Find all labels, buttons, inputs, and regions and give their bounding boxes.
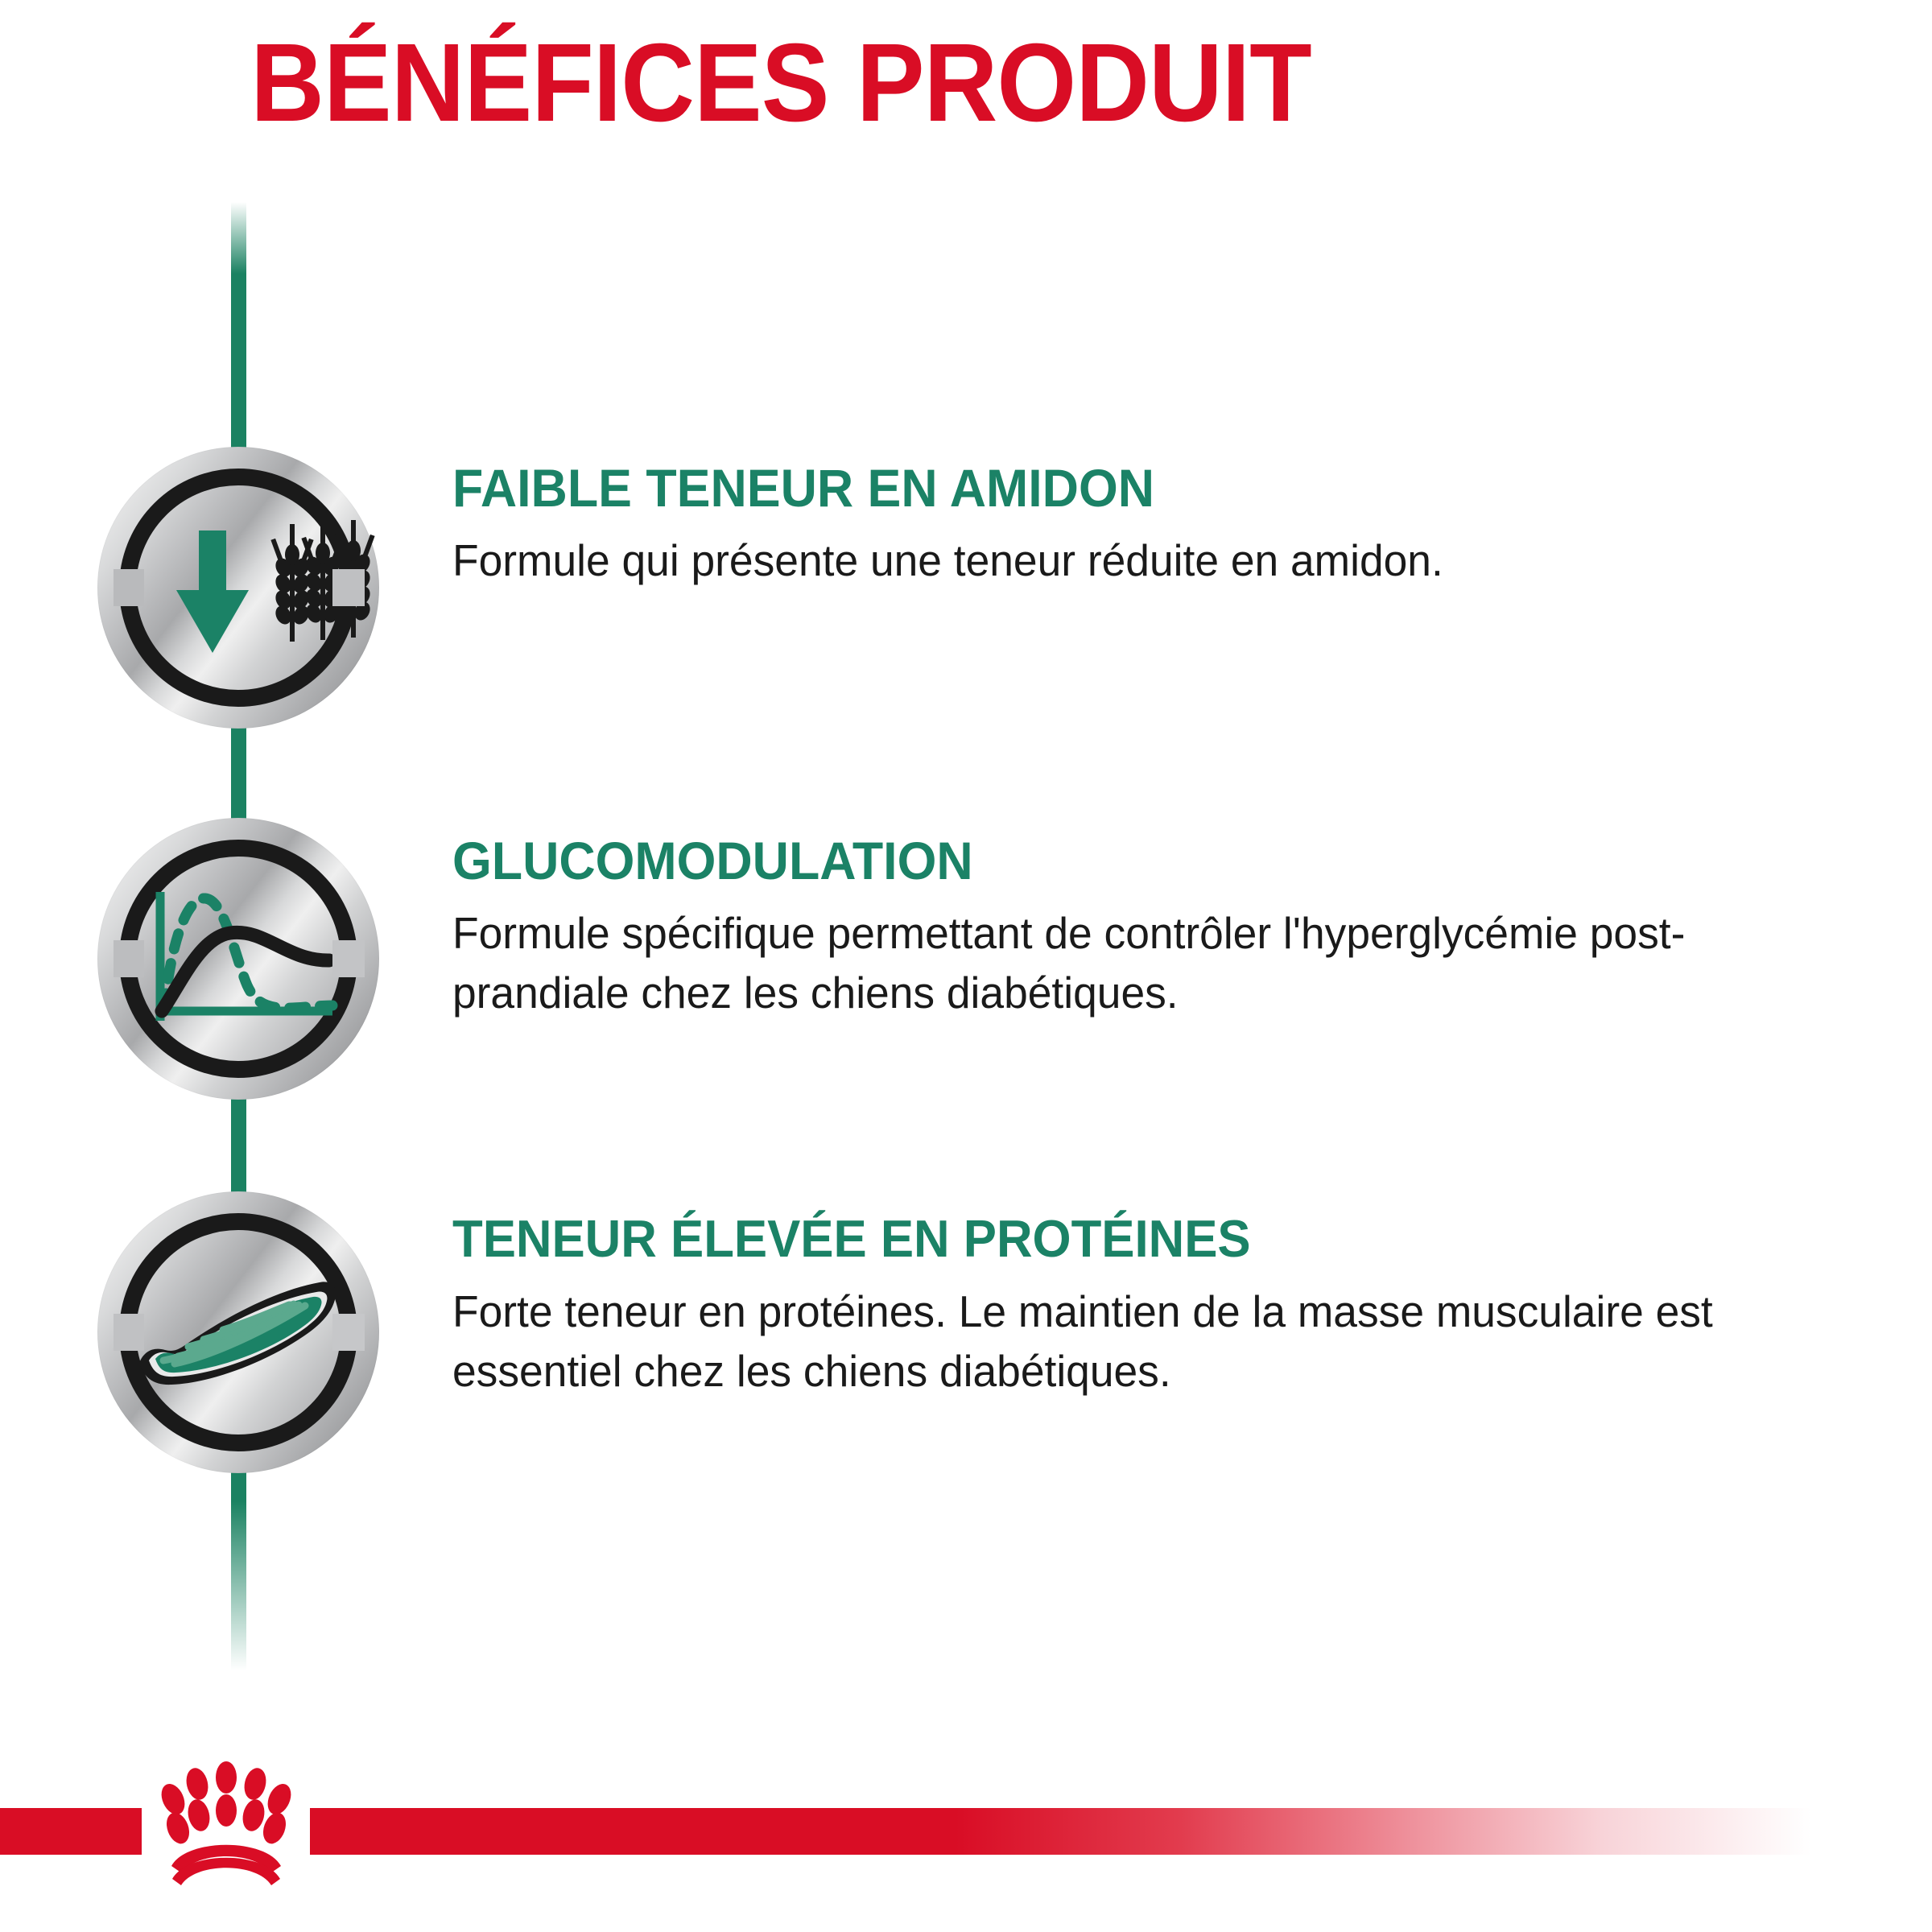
benefit-text-2: GLUCOMODULATION Formule spécifique perme…	[452, 831, 1773, 1022]
muscle-icon	[97, 1191, 379, 1473]
benefit-body-3: Forte teneur en protéines. Le maintien d…	[452, 1282, 1733, 1401]
benefit-body-1: Formule qui présente une teneur réduite …	[452, 530, 1733, 590]
ring-gap-left	[114, 569, 144, 606]
footer-bar-right	[310, 1808, 1811, 1855]
ring-gap-right	[332, 940, 365, 977]
arrow-down-wheat-icon	[97, 447, 379, 729]
ring-gap-right	[332, 569, 365, 606]
medallion-benefit-1	[97, 447, 379, 729]
benefit-text-1: FAIBLE TENEUR EN AMIDON Formule qui prés…	[452, 458, 1773, 590]
footer-bar-left	[0, 1808, 142, 1855]
page-title: BÉNÉFICES PRODUIT	[63, 23, 1500, 143]
benefit-text-3: TENEUR ÉLEVÉE EN PROTÉINES Forte teneur …	[452, 1209, 1773, 1401]
royal-canin-crown-paw-logo	[142, 1748, 311, 1917]
benefit-heading-1: FAIBLE TENEUR EN AMIDON	[452, 458, 1707, 518]
medallion-benefit-2	[97, 818, 379, 1100]
benefit-body-2: Formule spécifique permettant de contrôl…	[452, 903, 1733, 1022]
ring-gap-right	[332, 1314, 365, 1351]
benefit-heading-3: TENEUR ÉLEVÉE EN PROTÉINES	[452, 1209, 1707, 1269]
benefit-heading-2: GLUCOMODULATION	[452, 831, 1707, 890]
ring-gap-left	[114, 1314, 144, 1351]
medallion-benefit-3	[97, 1191, 379, 1473]
arrow-down-glyph	[176, 530, 249, 653]
ring-gap-left	[114, 940, 144, 977]
glucose-curve-icon	[97, 818, 379, 1100]
footer	[0, 1808, 1932, 1932]
